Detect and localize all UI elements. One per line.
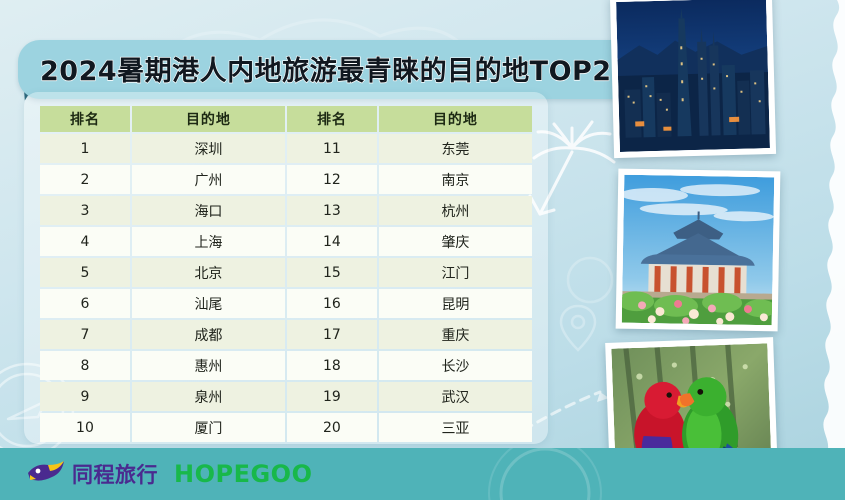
table-row: 3海口13杭州 — [40, 196, 532, 225]
ranking-table: 排名 目的地 排名 目的地 1深圳11东莞2广州12南京3海口13杭州4上海14… — [38, 104, 534, 444]
cell-destination-left: 泉州 — [132, 382, 285, 411]
column-header-rank-right: 排名 — [287, 106, 377, 132]
table-row: 4上海14肇庆 — [40, 227, 532, 256]
brand-tongcheng-label: 同程旅行 — [72, 459, 158, 489]
cell-rank-right: 12 — [287, 165, 377, 194]
cell-destination-left: 厦门 — [132, 413, 285, 442]
cell-destination-left: 惠州 — [132, 351, 285, 380]
cell-rank-right: 17 — [287, 320, 377, 349]
cell-rank-left: 3 — [40, 196, 130, 225]
table-row: 5北京15江门 — [40, 258, 532, 287]
cell-rank-left: 7 — [40, 320, 130, 349]
cell-destination-right: 东莞 — [379, 134, 532, 163]
cell-destination-right: 三亚 — [379, 413, 532, 442]
footer-circle-decoration — [485, 448, 605, 500]
cell-destination-left: 上海 — [132, 227, 285, 256]
cell-rank-left: 6 — [40, 289, 130, 318]
cell-destination-left: 汕尾 — [132, 289, 285, 318]
column-header-destination-left: 目的地 — [132, 106, 285, 132]
guangzhou-memorial-photo — [616, 169, 781, 332]
cell-rank-left: 2 — [40, 165, 130, 194]
infographic-poster: 2024暑期港人内地旅游最青睐的目的地TOP20 排名 目的地 排名 目的地 1… — [0, 0, 845, 500]
cell-destination-left: 海口 — [132, 196, 285, 225]
column-header-destination-right: 目的地 — [379, 106, 532, 132]
cell-destination-left: 广州 — [132, 165, 285, 194]
cell-rank-left: 4 — [40, 227, 130, 256]
bird-logo-icon — [26, 459, 66, 490]
cell-rank-right: 18 — [287, 351, 377, 380]
cell-destination-right: 重庆 — [379, 320, 532, 349]
cell-destination-right: 江门 — [379, 258, 532, 287]
cell-rank-left: 8 — [40, 351, 130, 380]
cell-rank-right: 16 — [287, 289, 377, 318]
poster-title: 2024暑期港人内地旅游最青睐的目的地TOP20 — [18, 40, 657, 99]
ranking-table-card: 排名 目的地 排名 目的地 1深圳11东莞2广州12南京3海口13杭州4上海14… — [24, 92, 548, 444]
cell-rank-right: 20 — [287, 413, 377, 442]
cell-destination-right: 肇庆 — [379, 227, 532, 256]
table-body: 1深圳11东莞2广州12南京3海口13杭州4上海14肇庆5北京15江门6汕尾16… — [40, 134, 532, 442]
cell-rank-right: 15 — [287, 258, 377, 287]
title-text: 2024暑期港人内地旅游最青睐的目的地TOP20 — [40, 49, 631, 88]
title-bubble: 2024暑期港人内地旅游最青睐的目的地TOP20 — [18, 40, 657, 99]
cell-rank-left: 9 — [40, 382, 130, 411]
cell-rank-right: 11 — [287, 134, 377, 163]
cell-rank-left: 1 — [40, 134, 130, 163]
column-header-rank-left: 排名 — [40, 106, 130, 132]
cell-destination-right: 南京 — [379, 165, 532, 194]
brand-hopegoo[interactable]: HOPEGOO — [174, 460, 312, 488]
table-row: 10厦门20三亚 — [40, 413, 532, 442]
cell-rank-right: 14 — [287, 227, 377, 256]
brand-tongcheng[interactable]: 同程旅行 — [26, 459, 158, 490]
shenzhen-skyline-image — [616, 0, 770, 152]
map-pin-icon — [555, 300, 601, 356]
brand-hopegoo-label: HOPEGOO — [174, 460, 312, 488]
torn-paper-edge — [793, 0, 845, 500]
cell-destination-left: 深圳 — [132, 134, 285, 163]
table-row: 6汕尾16昆明 — [40, 289, 532, 318]
footer-bar: 同程旅行 HOPEGOO — [0, 448, 845, 500]
cell-destination-left: 成都 — [132, 320, 285, 349]
table-row: 9泉州19武汉 — [40, 382, 532, 411]
cell-destination-right: 武汉 — [379, 382, 532, 411]
guangzhou-memorial-image — [622, 175, 775, 326]
cell-rank-left: 10 — [40, 413, 130, 442]
circle-decoration — [560, 250, 620, 310]
shenzhen-skyline-photo — [610, 0, 776, 158]
table-row: 8惠州18长沙 — [40, 351, 532, 380]
cell-destination-right: 昆明 — [379, 289, 532, 318]
cell-destination-right: 杭州 — [379, 196, 532, 225]
cell-destination-left: 北京 — [132, 258, 285, 287]
cell-rank-left: 5 — [40, 258, 130, 287]
cell-rank-right: 13 — [287, 196, 377, 225]
table-row: 1深圳11东莞 — [40, 134, 532, 163]
table-header-row: 排名 目的地 排名 目的地 — [40, 106, 532, 132]
cell-destination-right: 长沙 — [379, 351, 532, 380]
cell-rank-right: 19 — [287, 382, 377, 411]
table-row: 2广州12南京 — [40, 165, 532, 194]
table-row: 7成都17重庆 — [40, 320, 532, 349]
